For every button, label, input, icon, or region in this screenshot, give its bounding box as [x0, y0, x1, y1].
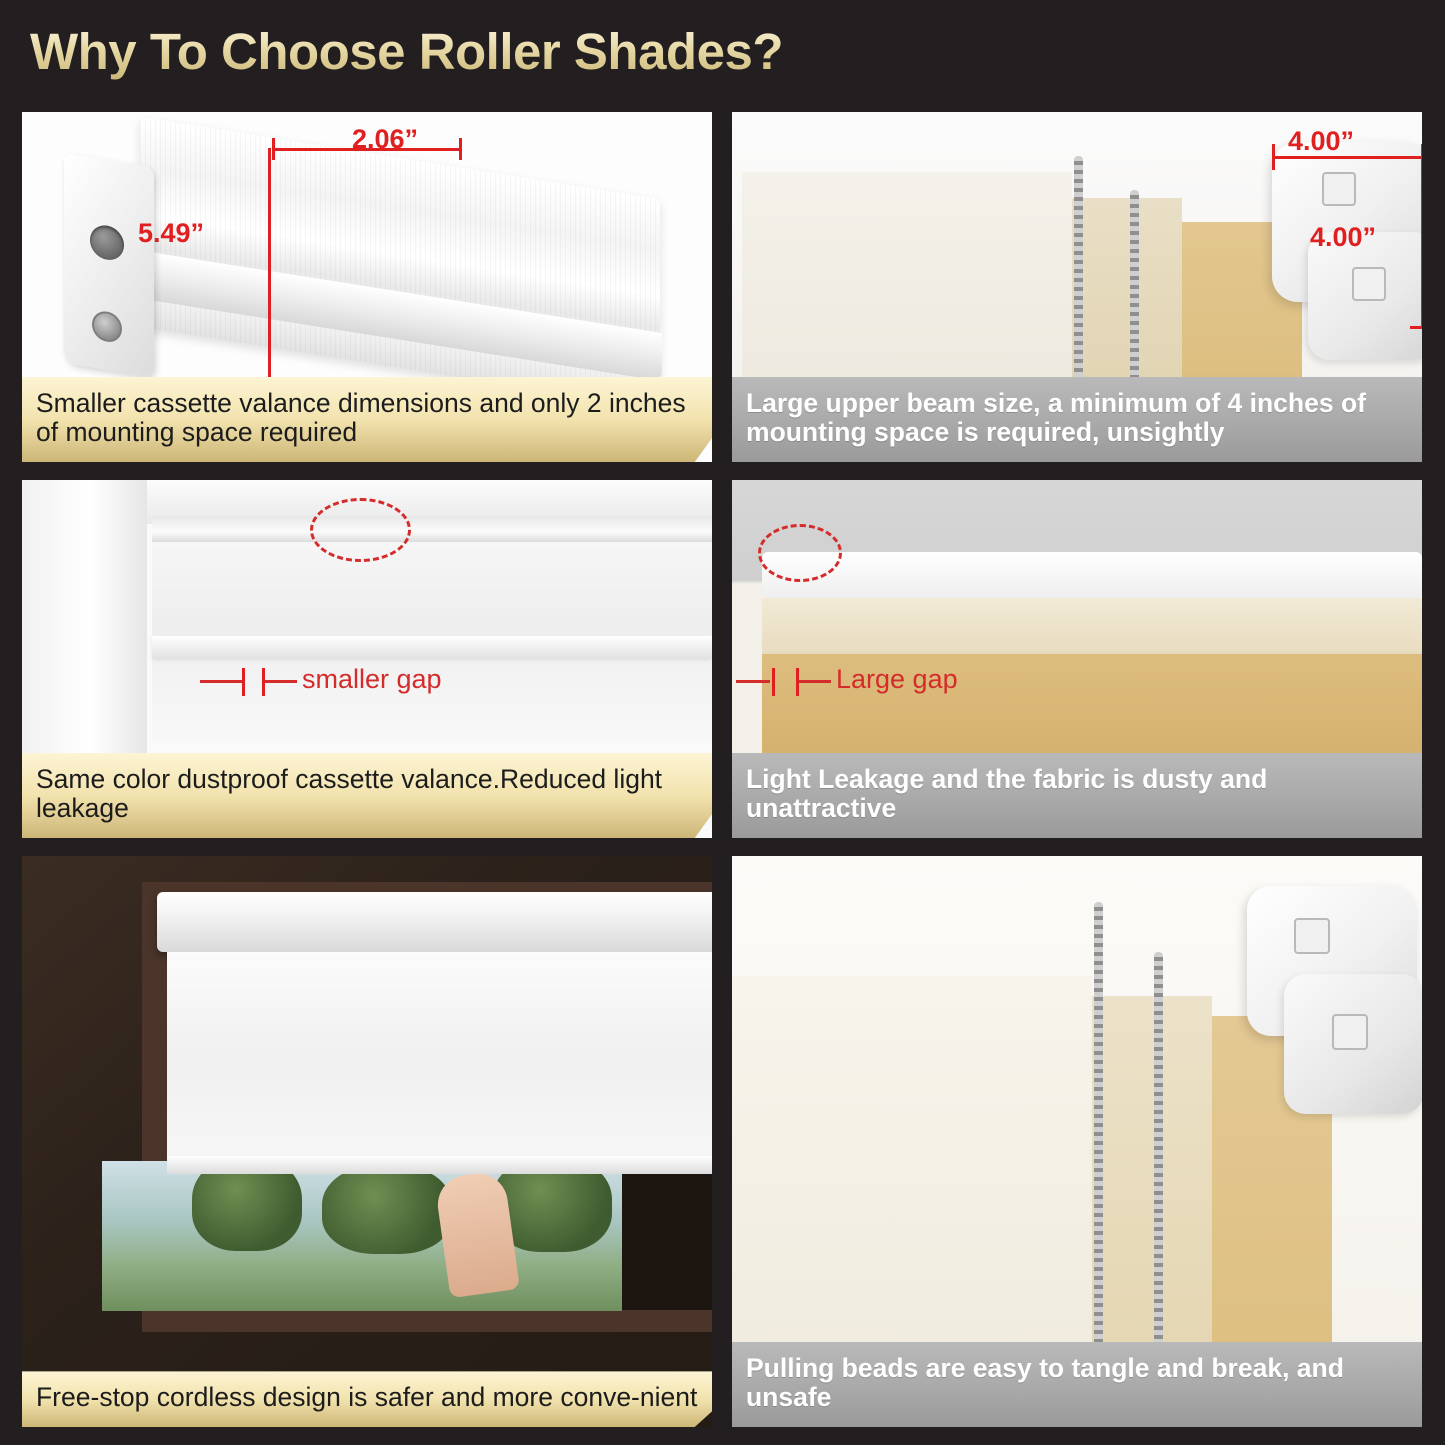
valance-endcap-shape: [64, 153, 154, 377]
panel-grid: 2.06” 5.49” Smaller cassette valance dim…: [22, 112, 1422, 1427]
shade-bottom-bar: [167, 1156, 712, 1174]
panel-pulling-beads: Pulling beads are easy to tangle and bre…: [732, 856, 1422, 1427]
panel-caption: Light Leakage and the fabric is dusty an…: [732, 753, 1422, 838]
depth-dimension-tick-bottom: [1410, 326, 1422, 329]
gap-arrow-right: [799, 680, 831, 683]
gap-arrow-right: [265, 680, 297, 683]
gap-label: Large gap: [836, 664, 958, 695]
gap-label: smaller gap: [302, 664, 442, 695]
bracket-icon-upper: [1294, 918, 1330, 954]
endcap-hole-icon: [90, 223, 124, 262]
roller-head-tube: [762, 552, 1422, 598]
gap-arrow-left: [200, 680, 242, 683]
depth-dimension-label: 4.00”: [1310, 222, 1376, 253]
panel-cassette-valance-dimensions: 2.06” 5.49” Smaller cassette valance dim…: [22, 112, 712, 462]
highlight-ellipse: [310, 498, 411, 562]
cassette-valance-head: [152, 516, 712, 542]
panel-caption: Same color dustproof cassette valance.Re…: [22, 753, 712, 838]
tree-icon-2: [322, 1164, 452, 1254]
bracket-icon-upper: [1322, 172, 1356, 206]
width-dimension-tick-right: [459, 138, 462, 160]
panel-dustproof-cassette: smaller gap Same color dustproof cassett…: [22, 480, 712, 838]
highlight-ellipse: [758, 524, 842, 582]
product-infographic: Why To Choose Roller Shades? 2.06” 5.49: [0, 0, 1445, 1445]
gap-arrow-left: [736, 680, 770, 683]
endcap-screw-icon: [92, 309, 122, 344]
gap-tick-left: [772, 668, 775, 696]
depth-dimension-line: [1421, 158, 1422, 328]
panel-caption: Large upper beam size, a minimum of 4 in…: [732, 377, 1422, 462]
panel-caption: Smaller cassette valance dimensions and …: [22, 377, 712, 462]
cassette-valance-head: [157, 892, 712, 952]
panel-light-leakage: Large gap Light Leakage and the fabric i…: [732, 480, 1422, 838]
bracket-icon-lower: [1352, 267, 1386, 301]
panel-cordless-design: Free-stop cordless design is safer and m…: [22, 856, 712, 1427]
gap-tick-left: [242, 668, 245, 696]
panel-caption: Free-stop cordless design is safer and m…: [22, 1371, 712, 1427]
width-dimension-label: 4.00”: [1288, 126, 1354, 157]
width-dimension-label: 2.06”: [352, 124, 418, 155]
page-title: Why To Choose Roller Shades?: [30, 22, 783, 81]
panel-caption: Pulling beads are easy to tangle and bre…: [732, 1342, 1422, 1427]
photo-room-window: [22, 856, 712, 1427]
shade-mid-bar: [152, 636, 712, 658]
bracket-icon-lower: [1332, 1014, 1368, 1050]
width-dimension-tick-left: [272, 138, 275, 160]
fabric-light-band: [762, 598, 1422, 654]
shade-fabric-body: [167, 952, 712, 1167]
height-dimension-label: 5.49”: [138, 218, 204, 249]
panel-large-upper-beam: 4.00” 4.00” Large upper beam size, a min…: [732, 112, 1422, 462]
width-dimension-tick-left: [1272, 144, 1275, 170]
